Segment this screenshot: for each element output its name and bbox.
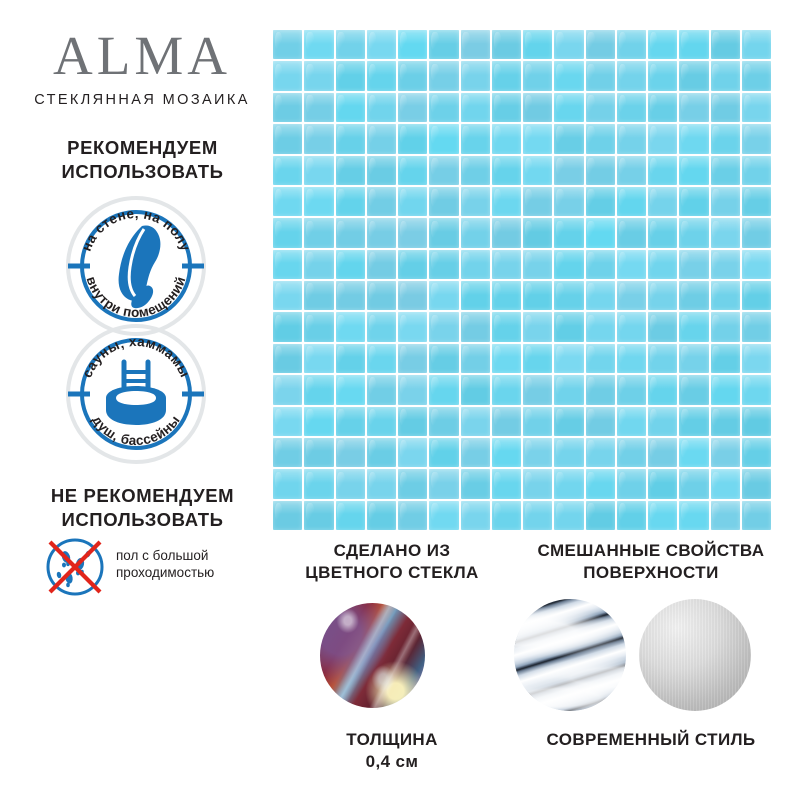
mosaic-tile [554, 250, 583, 279]
mosaic-tile [586, 312, 615, 341]
feature-footer-thickness-line1: ТОЛЩИНА [272, 729, 512, 751]
mosaic-tile [586, 187, 615, 216]
mosaic-tile [648, 375, 677, 404]
mosaic-tile [336, 187, 365, 216]
mosaic-tile [554, 93, 583, 122]
mosaic-tile [679, 312, 708, 341]
mosaic-tile [711, 250, 740, 279]
mosaic-tile [461, 124, 490, 153]
mosaic-tile [586, 438, 615, 467]
mosaic-tile [336, 61, 365, 90]
mosaic-tile [273, 61, 302, 90]
mosaic-tile [367, 250, 396, 279]
mosaic-tile [304, 124, 333, 153]
mosaic-tile [367, 469, 396, 498]
mosaic-tile [742, 187, 771, 216]
feature-heading-surface: СМЕШАННЫЕ СВОЙСТВА ПОВЕРХНОСТИ [512, 540, 790, 584]
mosaic-tile [679, 30, 708, 59]
mosaic-tile [586, 124, 615, 153]
feature-heading-glass-line1: СДЕЛАНО ИЗ [272, 540, 512, 562]
mosaic-tile [304, 250, 333, 279]
mosaic-tile [461, 469, 490, 498]
mosaic-tile [304, 501, 333, 530]
mosaic-tile [742, 281, 771, 310]
mosaic-tile [273, 30, 302, 59]
mosaic-tile [617, 281, 646, 310]
mosaic-tile [336, 156, 365, 185]
mosaic-tile [554, 156, 583, 185]
mosaic-tile [523, 375, 552, 404]
mosaic-tile [492, 156, 521, 185]
mosaic-tile [367, 438, 396, 467]
feature-heading-glass: СДЕЛАНО ИЗ ЦВЕТНОГО СТЕКЛА [272, 540, 512, 584]
mosaic-tile [273, 93, 302, 122]
mosaic-tile [336, 218, 365, 247]
mosaic-tile [711, 438, 740, 467]
mosaic-tile [679, 281, 708, 310]
mosaic-tile [742, 30, 771, 59]
mosaic-tile [304, 218, 333, 247]
mosaic-tile [492, 218, 521, 247]
mosaic-tile [586, 469, 615, 498]
mosaic-tile [273, 469, 302, 498]
mosaic-tile [617, 438, 646, 467]
mosaic-tile [367, 218, 396, 247]
mosaic-tile [742, 156, 771, 185]
mosaic-tile [711, 218, 740, 247]
mosaic-tile [648, 187, 677, 216]
mosaic-tile [586, 250, 615, 279]
mosaic-tile [679, 438, 708, 467]
colored-glass-swatch [320, 603, 425, 708]
mosaic-tile [273, 124, 302, 153]
mosaic-tile [648, 93, 677, 122]
mosaic-tile [429, 124, 458, 153]
mosaic-tile [523, 156, 552, 185]
no-recommendation-label-line1: пол с большой [116, 547, 256, 564]
mosaic-tile [304, 156, 333, 185]
mosaic-tile [273, 375, 302, 404]
mosaic-tile [742, 124, 771, 153]
mosaic-tile [523, 438, 552, 467]
mosaic-tile [679, 124, 708, 153]
mosaic-tile [367, 30, 396, 59]
mosaic-tile [398, 281, 427, 310]
no-footprints-icon [44, 536, 106, 598]
mosaic-tile [461, 438, 490, 467]
mosaic-tile [648, 156, 677, 185]
mosaic-tile [586, 218, 615, 247]
mosaic-tile [429, 438, 458, 467]
mosaic-tile [648, 61, 677, 90]
no-recommendation-label-line2: проходимостью [116, 564, 256, 581]
mosaic-tile [492, 501, 521, 530]
mosaic-tile [273, 187, 302, 216]
mosaic-tile [304, 30, 333, 59]
mosaic-tile [398, 124, 427, 153]
mosaic-tile [429, 407, 458, 436]
mosaic-tile [367, 344, 396, 373]
mosaic-tile [398, 375, 427, 404]
brand-tagline: СТЕКЛЯННАЯ МОЗАИКА [22, 92, 262, 108]
feature-footer-thickness-line2: 0,4 см [272, 751, 512, 773]
mosaic-tile [586, 501, 615, 530]
mosaic-tile [617, 344, 646, 373]
mosaic-tile [617, 187, 646, 216]
mosaic-tile [554, 407, 583, 436]
mosaic-tile [461, 407, 490, 436]
metallic-surface-swatch [639, 599, 751, 711]
badge-indoor-wall-floor: на стене, на полу внутри помещений [66, 196, 206, 336]
mosaic-tile [648, 344, 677, 373]
mosaic-tile [304, 375, 333, 404]
recommended-heading-line1: РЕКОМЕНДУЕМ [20, 136, 265, 160]
mosaic-tile [617, 61, 646, 90]
mosaic-tile [586, 93, 615, 122]
mosaic-tile [304, 187, 333, 216]
mosaic-tile [742, 93, 771, 122]
mosaic-tile [492, 344, 521, 373]
mosaic-tile [273, 250, 302, 279]
mosaic-tile [367, 407, 396, 436]
mosaic-tile [461, 344, 490, 373]
feature-heading-surface-line1: СМЕШАННЫЕ СВОЙСТВА [512, 540, 790, 562]
mosaic-tile [648, 501, 677, 530]
mosaic-tile [523, 30, 552, 59]
mosaic-tile [429, 93, 458, 122]
mosaic-tile [367, 281, 396, 310]
mosaic-tile [523, 469, 552, 498]
mosaic-tile [336, 375, 365, 404]
mosaic-tile [742, 407, 771, 436]
mosaic-tile [461, 30, 490, 59]
mosaic-tile [523, 93, 552, 122]
mosaic-tile [742, 218, 771, 247]
mosaic-tile [742, 501, 771, 530]
mosaic-tile [367, 312, 396, 341]
mosaic-tile [367, 187, 396, 216]
mosaic-tile [429, 250, 458, 279]
mosaic-tile [336, 312, 365, 341]
mosaic-tile [367, 156, 396, 185]
mosaic-tile [398, 187, 427, 216]
mosaic-tile [648, 312, 677, 341]
mosaic-tile [429, 501, 458, 530]
mosaic-tile [617, 30, 646, 59]
mosaic-tile [492, 281, 521, 310]
mosaic-tile [429, 469, 458, 498]
mosaic-tile [617, 469, 646, 498]
mosaic-tile [461, 250, 490, 279]
mosaic-tile [523, 61, 552, 90]
mosaic-tile [304, 438, 333, 467]
mosaic-tile [586, 281, 615, 310]
mosaic-tile [273, 438, 302, 467]
mosaic-tile [336, 501, 365, 530]
mosaic-tile [679, 218, 708, 247]
not-recommended-heading-line2: ИСПОЛЬЗОВАТЬ [20, 508, 265, 532]
mosaic-tile [617, 375, 646, 404]
mosaic-tile [492, 93, 521, 122]
mosaic-tile [554, 30, 583, 59]
mosaic-tile [304, 407, 333, 436]
mosaic-tile [523, 187, 552, 216]
recommended-heading-line2: ИСПОЛЬЗОВАТЬ [20, 160, 265, 184]
mosaic-tile [648, 281, 677, 310]
mosaic-tile [429, 281, 458, 310]
mosaic-tile [648, 407, 677, 436]
mosaic-tile [398, 93, 427, 122]
mosaic-tile [273, 281, 302, 310]
mosaic-tile [742, 250, 771, 279]
mosaic-tile [711, 156, 740, 185]
mosaic-tile [492, 469, 521, 498]
mosaic-tile [554, 438, 583, 467]
mosaic-tile [554, 281, 583, 310]
mosaic-tile [398, 250, 427, 279]
feature-footer-style-line1: СОВРЕМЕННЫЙ СТИЛЬ [512, 729, 790, 751]
mosaic-tile [492, 438, 521, 467]
mosaic-tile [679, 61, 708, 90]
mosaic-tile [304, 61, 333, 90]
mosaic-tile [429, 344, 458, 373]
feature-footer-thickness: ТОЛЩИНА 0,4 см [272, 729, 512, 773]
mosaic-tile [523, 407, 552, 436]
mosaic-tile [523, 250, 552, 279]
mosaic-tile [711, 187, 740, 216]
mosaic-tile [398, 218, 427, 247]
mosaic-tile [273, 501, 302, 530]
mosaic-tile [648, 30, 677, 59]
mosaic-tile [742, 344, 771, 373]
feature-footer-style: СОВРЕМЕННЫЙ СТИЛЬ [512, 729, 790, 751]
mosaic-tile [617, 250, 646, 279]
mosaic-tile [492, 407, 521, 436]
mosaic-tile [492, 30, 521, 59]
mosaic-tile [586, 407, 615, 436]
mosaic-tile [586, 375, 615, 404]
mosaic-tile [336, 124, 365, 153]
mosaic-tile [461, 375, 490, 404]
metal-brush-overlay [639, 599, 751, 711]
mosaic-tile [336, 30, 365, 59]
mosaic-tile [367, 124, 396, 153]
mosaic-tile [679, 407, 708, 436]
mosaic-tile [711, 30, 740, 59]
mosaic-tile [586, 344, 615, 373]
mosaic-tile [617, 407, 646, 436]
mosaic-tile [711, 93, 740, 122]
mosaic-tile [523, 312, 552, 341]
mosaic-tile [554, 61, 583, 90]
mosaic-tile [711, 375, 740, 404]
marble-surface-swatch [514, 599, 626, 711]
mosaic-tile [711, 61, 740, 90]
mosaic-tile [429, 30, 458, 59]
mosaic-tile [336, 250, 365, 279]
mosaic-tile [429, 61, 458, 90]
feature-heading-surface-line2: ПОВЕРХНОСТИ [512, 562, 790, 584]
mosaic-tile [273, 218, 302, 247]
mosaic-tile [679, 501, 708, 530]
mosaic-tile [617, 312, 646, 341]
mosaic-tile [648, 438, 677, 467]
mosaic-tile [461, 187, 490, 216]
mosaic-tile [461, 281, 490, 310]
mosaic-tile [336, 407, 365, 436]
mosaic-tile [461, 501, 490, 530]
mosaic-tile [742, 61, 771, 90]
pool-icon [106, 362, 166, 425]
mosaic-tile [617, 218, 646, 247]
mosaic-tile [711, 407, 740, 436]
mosaic-tile [429, 375, 458, 404]
no-recommendation-label: пол с большой проходимостью [116, 547, 256, 581]
mosaic-tile [523, 218, 552, 247]
mosaic-tile [617, 501, 646, 530]
mosaic-tile [742, 469, 771, 498]
mosaic-tile [367, 61, 396, 90]
product-infographic: ALMA СТЕКЛЯННАЯ МОЗАИКА РЕКОМЕНДУЕМ ИСПО… [0, 0, 800, 800]
mosaic-tile [648, 250, 677, 279]
mosaic-tile [554, 344, 583, 373]
mosaic-tile [492, 61, 521, 90]
mosaic-tile [492, 250, 521, 279]
mosaic-tile [336, 93, 365, 122]
mosaic-tile [273, 156, 302, 185]
mosaic-tile [492, 124, 521, 153]
not-recommended-heading-line1: НЕ РЕКОМЕНДУЕМ [20, 484, 265, 508]
marble-wave-overlay [514, 599, 626, 711]
mosaic-tile [461, 61, 490, 90]
mosaic-tile [273, 312, 302, 341]
mosaic-tile [429, 218, 458, 247]
mosaic-tile [648, 218, 677, 247]
mosaic-tile [336, 438, 365, 467]
mosaic-tile [273, 344, 302, 373]
mosaic-tile [304, 469, 333, 498]
glass-mosaic-sheet [273, 30, 771, 530]
mosaic-tile [742, 375, 771, 404]
mosaic-tile [742, 312, 771, 341]
mosaic-tile [336, 469, 365, 498]
mosaic-tile [429, 187, 458, 216]
mosaic-tile [304, 312, 333, 341]
mosaic-tile [429, 156, 458, 185]
mosaic-tile [711, 469, 740, 498]
mosaic-tile [336, 281, 365, 310]
mosaic-tile [367, 375, 396, 404]
badge-sauna-pool: сауны, хаммамы душ, бассейны [66, 324, 206, 464]
mosaic-tile [398, 156, 427, 185]
mosaic-tile [304, 281, 333, 310]
brand-logo: ALMA СТЕКЛЯННАЯ МОЗАИКА [22, 26, 262, 108]
mosaic-tile [398, 312, 427, 341]
mosaic-tile [554, 469, 583, 498]
mosaic-tile [304, 93, 333, 122]
mosaic-tile [679, 93, 708, 122]
mosaic-tile [367, 501, 396, 530]
mosaic-tile [554, 375, 583, 404]
mosaic-tile [523, 281, 552, 310]
mosaic-tile [398, 344, 427, 373]
mosaic-tile [554, 218, 583, 247]
mosaic-tile [273, 407, 302, 436]
brand-name: ALMA [22, 26, 262, 86]
mosaic-tile [336, 344, 365, 373]
mosaic-tile [648, 124, 677, 153]
glass-highlight-overlay [320, 603, 425, 708]
mosaic-tile [711, 281, 740, 310]
mosaic-tile [398, 438, 427, 467]
mosaic-tile [492, 375, 521, 404]
mosaic-tile [711, 124, 740, 153]
mosaic-tile [679, 375, 708, 404]
mosaic-tile [429, 312, 458, 341]
mosaic-tile [461, 156, 490, 185]
foot-icon [119, 225, 161, 308]
mosaic-tile [586, 61, 615, 90]
mosaic-tile [679, 156, 708, 185]
mosaic-tile [492, 312, 521, 341]
mosaic-tile [679, 344, 708, 373]
mosaic-tile [492, 187, 521, 216]
mosaic-tile [711, 501, 740, 530]
mosaic-tile [461, 312, 490, 341]
mosaic-tile [398, 407, 427, 436]
mosaic-tile [523, 124, 552, 153]
mosaic-tile [679, 469, 708, 498]
mosaic-tile [523, 344, 552, 373]
feature-heading-glass-line2: ЦВЕТНОГО СТЕКЛА [272, 562, 512, 584]
mosaic-tile [617, 93, 646, 122]
mosaic-tile [523, 501, 552, 530]
not-recommended-heading: НЕ РЕКОМЕНДУЕМ ИСПОЛЬЗОВАТЬ [20, 484, 265, 532]
mosaic-tile [679, 250, 708, 279]
mosaic-tile [711, 312, 740, 341]
mosaic-tile [617, 156, 646, 185]
mosaic-tile [554, 501, 583, 530]
mosaic-tile [711, 344, 740, 373]
mosaic-tile [304, 344, 333, 373]
mosaic-tile [554, 312, 583, 341]
mosaic-tile [586, 30, 615, 59]
mosaic-tile [586, 156, 615, 185]
mosaic-tile [398, 501, 427, 530]
mosaic-tile [398, 469, 427, 498]
mosaic-tile [679, 187, 708, 216]
mosaic-tile [554, 124, 583, 153]
mosaic-tile [617, 124, 646, 153]
mosaic-tile [742, 438, 771, 467]
mosaic-tile [398, 30, 427, 59]
mosaic-tile [648, 469, 677, 498]
mosaic-tile [398, 61, 427, 90]
recommended-heading: РЕКОМЕНДУЕМ ИСПОЛЬЗОВАТЬ [20, 136, 265, 184]
mosaic-tile [461, 93, 490, 122]
mosaic-tile [554, 187, 583, 216]
mosaic-tile [461, 218, 490, 247]
mosaic-tile [367, 93, 396, 122]
